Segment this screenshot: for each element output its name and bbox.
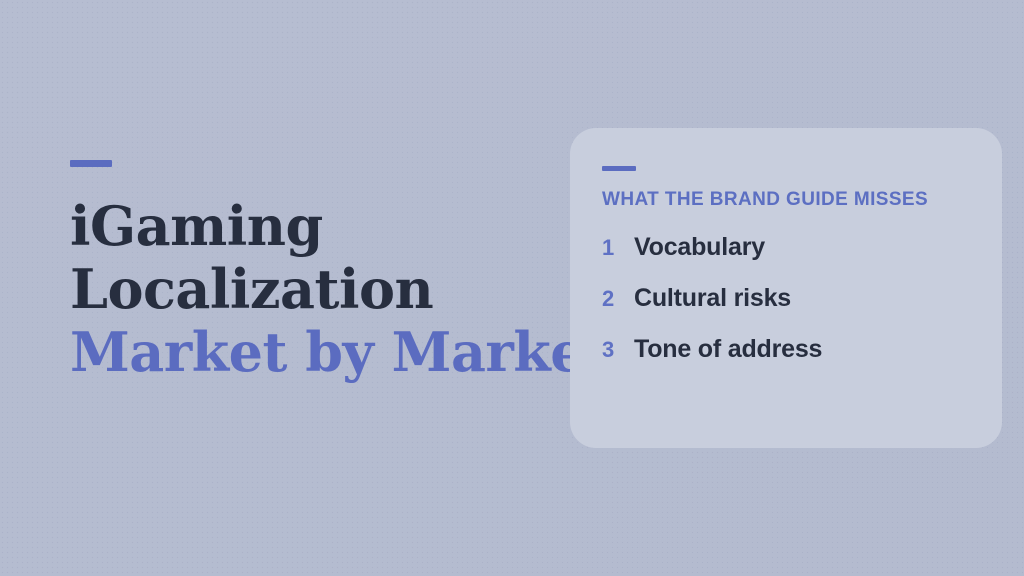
list-item-label: Cultural risks	[634, 284, 791, 313]
page-title: iGaming Localization Market by Market	[70, 195, 570, 384]
card-eyebrow-heading: WHAT THE BRAND GUIDE MISSES	[602, 189, 968, 211]
list-item-number: 3	[602, 337, 634, 363]
list-item-number: 2	[602, 286, 634, 312]
brand-guide-card: WHAT THE BRAND GUIDE MISSES 1 Vocabulary…	[570, 128, 1002, 448]
list-item-number: 1	[602, 235, 634, 261]
list-item: 3 Tone of address	[602, 335, 968, 364]
list-item: 2 Cultural risks	[602, 284, 968, 313]
accent-dash-icon	[70, 160, 112, 167]
title-block: iGaming Localization Market by Market	[70, 160, 570, 384]
list-item: 1 Vocabulary	[602, 233, 968, 262]
misses-list: 1 Vocabulary 2 Cultural risks 3 Tone of …	[602, 233, 968, 364]
headline-line-3: Market by Market	[70, 321, 570, 384]
headline-line-2: Localization	[70, 258, 570, 321]
list-item-label: Vocabulary	[634, 233, 765, 262]
headline-line-1: iGaming	[70, 195, 570, 258]
slide-canvas: iGaming Localization Market by Market WH…	[0, 0, 1024, 576]
list-item-label: Tone of address	[634, 335, 822, 364]
card-accent-dash-icon	[602, 166, 636, 171]
